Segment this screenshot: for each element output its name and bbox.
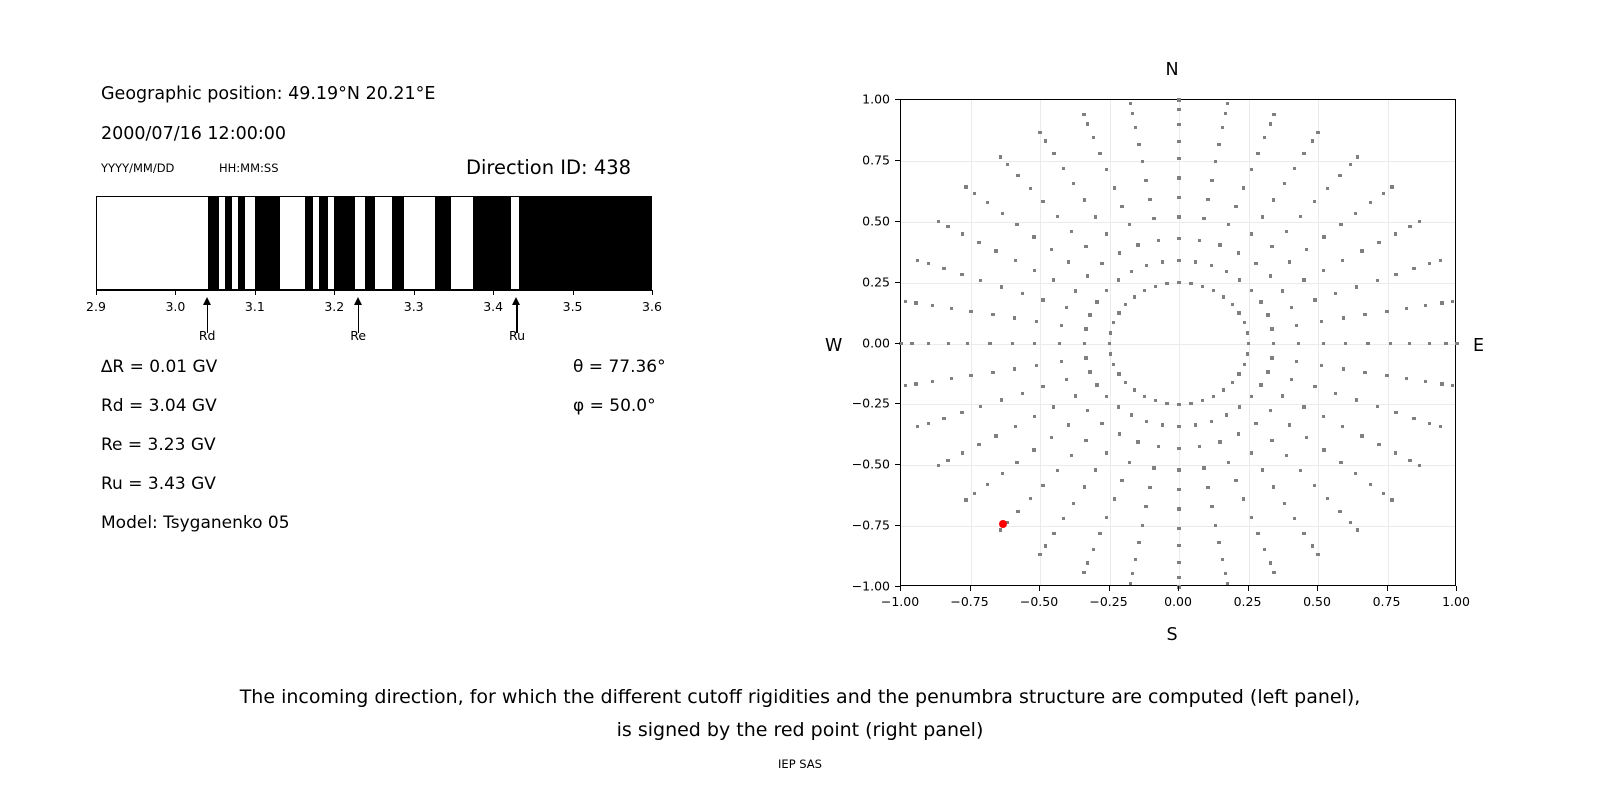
direction-point [1237,311,1240,314]
sky-map-y-tick [895,282,900,283]
direction-point [1108,342,1111,345]
direction-point [1098,152,1101,155]
direction-point [1189,282,1192,285]
penumbra-chart [96,196,652,290]
direction-point [964,498,967,501]
sky-map-x-tick [1456,586,1457,591]
direction-point [1130,413,1133,416]
compass-south-label: S [1166,625,1177,645]
direction-point [1389,342,1392,345]
direction-point [1117,278,1120,281]
direction-point [1065,378,1068,381]
direction-point [1120,205,1123,208]
penumbra-x-tick-label: 2.9 [86,299,106,314]
direction-point [1256,152,1259,155]
direction-point [1129,102,1132,105]
direction-point [986,483,989,486]
direction-point [1221,126,1224,129]
direction-point [1377,443,1380,446]
direction-point [1222,295,1225,298]
direction-point [1145,420,1148,423]
direction-point [916,425,919,428]
direction-point [1231,303,1234,306]
direction-point [1105,395,1108,398]
direction-point [1083,342,1086,345]
direction-point [1032,448,1035,451]
direction-point [1206,198,1209,201]
penumbra-forbidden-band [519,197,652,289]
direction-point [1161,423,1164,426]
direction-point [950,377,953,380]
date-format-hint: YYYY/MM/DD [101,161,174,175]
direction-point [1356,155,1359,158]
direction-point [1000,398,1003,401]
direction-point [1224,572,1227,575]
direction-point [1134,126,1137,129]
direction-point [1082,113,1085,116]
direction-point [1272,113,1275,116]
direction-point [1377,241,1380,244]
direction-point [1177,157,1180,160]
direction-point [1261,468,1264,471]
direction-point [1259,383,1262,386]
direction-point [1035,320,1038,323]
caption-line-2: is signed by the red point (right panel) [0,719,1600,741]
direction-point [1270,439,1273,442]
direction-point [1418,464,1421,467]
penumbra-x-tick-label: 3.3 [404,299,424,314]
direction-point [1041,298,1044,301]
direction-point [1418,220,1421,223]
direction-point [1408,459,1411,462]
direction-point [1212,395,1215,398]
direction-point [1225,270,1228,273]
direction-point [1095,300,1098,303]
direction-point [1266,370,1269,373]
direction-point [1065,306,1068,309]
direction-point [1092,136,1095,139]
direction-point [1281,394,1284,397]
direction-point [1451,300,1454,303]
direction-point [966,342,969,345]
direction-point [1165,282,1168,285]
caption-line-1: The incoming direction, for which the di… [0,686,1600,708]
direction-point [1299,215,1302,218]
geographic-position-text: Geographic position: 49.19°N 20.21°E [101,84,436,104]
sky-map-y-tick-label: 0.75 [832,152,890,167]
direction-point [1302,278,1305,281]
direction-point [1032,235,1035,238]
direction-point [1035,364,1038,367]
direction-point [1243,363,1246,366]
direction-point [1218,243,1221,246]
gridline-horizontal [901,344,1455,345]
direction-point [1072,502,1075,505]
gridline-vertical [1179,100,1180,585]
penumbra-x-tick-label: 3.2 [324,299,344,314]
penumbra-x-tick-label: 3.4 [483,299,503,314]
direction-point [1382,492,1385,495]
penumbra-x-tick [414,290,415,295]
direction-point [960,411,963,414]
direction-point [1086,409,1089,412]
direction-point [1363,313,1366,316]
sky-map-y-tick [895,464,900,465]
direction-point [1238,278,1241,281]
direction-point [931,304,934,307]
direction-point [1263,548,1266,551]
penumbra-forbidden-band [238,197,245,289]
direction-point [1177,561,1180,564]
direction-point [1326,187,1329,190]
compass-north-label: N [1165,60,1178,80]
direction-point [1214,160,1217,163]
direction-point [1177,468,1180,471]
sky-map-y-tick-label: −0.25 [832,396,890,411]
direction-point [947,342,950,345]
direction-point [1021,292,1024,295]
sky-map-x-tick-label: −0.75 [950,594,988,609]
direction-point [1100,262,1103,265]
direction-point [1177,425,1180,428]
direction-point [1041,385,1044,388]
direction-point [1177,176,1180,179]
direction-point [1226,102,1229,105]
direction-point [1095,383,1098,386]
direction-point [1234,205,1237,208]
direction-point [1177,98,1180,101]
direction-point [1033,415,1036,418]
direction-point [1322,269,1325,272]
direction-point [1394,232,1397,235]
direction-point [1254,262,1257,265]
gridline-vertical [1318,100,1319,585]
compass-east-label: E [1473,336,1484,356]
figure-canvas: Geographic position: 49.19°N 20.21°E 200… [0,0,1600,800]
direction-point [1272,485,1275,488]
direction-point [1385,310,1388,313]
direction-point [1210,505,1213,508]
direction-point [1177,507,1180,510]
sky-map-y-tick-label: 0.00 [832,335,890,350]
penumbra-x-tick [652,290,653,295]
direction-point [961,232,964,235]
sky-map-x-tick [900,586,901,591]
direction-point [1227,461,1230,464]
direction-point [1270,245,1273,248]
direction-point [937,220,940,223]
sky-map-x-tick [1039,586,1040,591]
direction-point [1177,108,1180,111]
penumbra-x-tick-label: 3.6 [642,299,662,314]
sky-map-x-tick-label: −1.00 [881,594,919,609]
direction-point [1015,223,1018,226]
sky-map-x-tick-label: −0.25 [1089,594,1127,609]
direction-point [1177,488,1180,491]
direction-point [1082,571,1085,574]
gridline-vertical [971,100,972,585]
direction-point [1293,517,1296,520]
direction-point [1198,445,1201,448]
direction-point [1221,558,1224,561]
direction-point [1141,524,1144,527]
direction-point [1083,485,1086,488]
direction-point [1094,215,1097,218]
direction-point [1227,223,1230,226]
penumbra-forbidden-band [365,197,375,289]
direction-point [1334,392,1337,395]
direction-point [973,192,976,195]
direction-point [1052,152,1055,155]
direction-point [1455,342,1458,345]
direction-point [986,201,989,204]
sky-map-x-tick [970,586,971,591]
direction-point [1250,289,1253,292]
direction-point [1349,521,1352,524]
direction-point [1217,143,1220,146]
direction-point [1044,139,1047,142]
direction-point [1112,321,1115,324]
direction-point [1316,131,1319,134]
direction-point [1322,415,1325,418]
direction-point [1001,212,1004,215]
direction-point [1113,186,1116,189]
sky-map-x-tick-label: 0.75 [1373,594,1401,609]
direction-point [1326,497,1329,500]
direction-point [1272,342,1275,345]
direction-point [1016,510,1019,513]
direction-point [1134,558,1137,561]
figure-footer: IEP SAS [0,757,1600,771]
direction-point [1355,398,1358,401]
direction-point [1320,320,1323,323]
direction-point [1131,572,1134,575]
direction-point [1451,384,1454,387]
direction-point [1117,311,1120,314]
sky-map-y-tick-label: 0.25 [832,274,890,289]
direction-point [1269,122,1272,125]
direction-point [1305,248,1308,251]
direction-point [1067,423,1070,426]
penumbra-x-tick-label: 3.1 [245,299,265,314]
direction-point [1424,380,1427,383]
direction-point [1041,200,1044,203]
direction-point [1177,196,1180,199]
penumbra-forbidden-band [255,197,280,289]
direction-point [1210,420,1213,423]
direction-point [1299,469,1302,472]
direction-point [1113,497,1116,500]
direction-point [1202,466,1205,469]
direction-point [994,249,997,252]
direction-point [1098,532,1101,535]
sky-map-y-tick-label: 1.00 [832,92,890,107]
direction-point [1341,425,1344,428]
direction-point [1290,378,1293,381]
direction-point [1062,167,1065,170]
direction-point [1225,413,1228,416]
direction-point [1112,363,1115,366]
direction-point [1281,289,1284,292]
direction-point [927,342,930,345]
direction-point [1270,327,1273,330]
direction-point [1424,304,1427,307]
direction-point [1124,381,1127,384]
direction-point [1382,192,1385,195]
direction-point [969,374,972,377]
direction-point [969,310,972,313]
direction-point [1269,409,1272,412]
direction-point [1148,198,1151,201]
direction-point [1394,273,1397,276]
direction-point [1129,582,1132,585]
direction-point [1088,370,1091,373]
direction-point [1226,582,1229,585]
direction-point [1152,217,1155,220]
direction-point [1084,439,1087,442]
direction-point [1015,461,1018,464]
direction-point [1128,461,1131,464]
penumbra-forbidden-band [392,197,403,289]
direction-point [1269,274,1272,277]
direction-point [1237,432,1240,435]
sky-map-y-tick-label: −0.75 [832,518,890,533]
direction-point [1311,139,1314,142]
direction-point [1218,440,1221,443]
sky-map-x-tick [1317,586,1318,591]
direction-point [1354,472,1357,475]
time-format-hint: HH:MM:SS [219,161,279,175]
direction-point [1105,168,1108,171]
gridline-horizontal [901,161,1455,162]
sky-map-x-tick [1109,586,1110,591]
direction-point [1033,342,1036,345]
direction-point [1288,423,1291,426]
direction-point [1322,235,1325,238]
penumbra-x-tick-label: 3.5 [563,299,583,314]
direction-point [1440,382,1443,385]
direction-point [1313,484,1316,487]
direction-point [1376,279,1379,282]
marker-label-rd: Rd [199,328,216,343]
direction-point [1363,371,1366,374]
direction-point [1412,417,1415,420]
direction-point [1133,388,1136,391]
direction-point [1194,260,1197,263]
direction-point [1118,432,1121,435]
direction-point [1322,448,1325,451]
penumbra-forbidden-band [319,197,329,289]
sky-map-y-tick [895,99,900,100]
direction-point [1072,182,1075,185]
direction-point [1060,360,1063,363]
direction-point [1177,259,1180,262]
direction-point [1302,152,1305,155]
direction-point [910,342,913,345]
direction-point [1105,516,1108,519]
direction-point [1408,342,1411,345]
direction-point [1360,249,1363,252]
direction-point [1439,425,1442,428]
direction-point [1297,342,1300,345]
direction-point [1052,405,1055,408]
direction-point [1246,352,1249,355]
direction-point [1157,239,1160,242]
direction-point [1165,402,1168,405]
direction-point [1342,316,1345,319]
direction-point [1283,502,1286,505]
parameter-row: ∆R = 0.01 GV [101,357,217,377]
direction-point [1145,264,1148,267]
direction-point [1201,399,1204,402]
direction-point [931,380,934,383]
direction-point [1131,112,1134,115]
sky-map-x-tick-label: 0.00 [1164,594,1192,609]
penumbra-plot-area [96,196,652,290]
direction-point [1109,352,1112,355]
direction-point [927,422,930,425]
direction-point [1394,411,1397,414]
direction-point [999,155,1002,158]
parameter-row: Model: Tsyganenko 05 [101,513,290,533]
direction-point [946,225,949,228]
direction-point [1070,230,1073,233]
sky-map-x-tick-label: 0.50 [1303,594,1331,609]
direction-point [916,259,919,262]
direction-point [1056,215,1059,218]
direction-point [1094,468,1097,471]
direction-point [1210,179,1213,182]
direction-point [1084,327,1087,330]
direction-point [1074,394,1077,397]
direction-point [1250,395,1253,398]
direction-point [1198,239,1201,242]
direction-point [1385,374,1388,377]
direction-point [1339,223,1342,226]
penumbra-forbidden-band [305,197,313,289]
direction-point [1263,136,1266,139]
direction-point [1050,248,1053,251]
direction-point [1322,342,1325,345]
direction-point [1154,285,1157,288]
sky-map-x-tick [1178,586,1179,591]
direction-point [1408,225,1411,228]
direction-point [1013,367,1016,370]
direction-point [1256,532,1259,535]
direction-point [1394,451,1397,454]
direction-point [979,279,982,282]
penumbra-x-tick [334,290,335,295]
direction-point [1238,405,1241,408]
sky-map-x-tick-label: −0.50 [1020,594,1058,609]
direction-point [1092,548,1095,551]
direction-point [1320,364,1323,367]
gridline-horizontal [901,465,1455,466]
direction-point [1118,251,1121,254]
direction-point [1272,198,1275,201]
direction-point [1295,360,1298,363]
direction-point [1100,422,1103,425]
direction-point [1177,527,1180,530]
direction-point [1270,356,1273,359]
direction-point [1117,405,1120,408]
penumbra-forbidden-band [473,197,510,289]
direction-point [1405,307,1408,310]
direction-point [1428,422,1431,425]
direction-point [1369,201,1372,204]
direction-point [942,417,945,420]
direction-point [1428,342,1431,345]
